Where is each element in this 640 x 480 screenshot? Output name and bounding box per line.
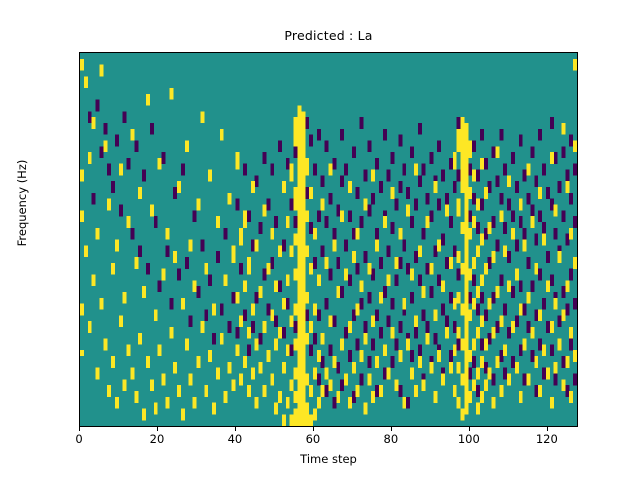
y-axis-label: Frequency (Hz) bbox=[15, 133, 29, 273]
x-tick-label: 40 bbox=[205, 432, 265, 446]
x-tick-mark bbox=[391, 427, 392, 431]
x-tick-label: 60 bbox=[283, 432, 343, 446]
x-tick-mark bbox=[469, 427, 470, 431]
x-tick-label: 0 bbox=[49, 432, 109, 446]
x-tick-mark bbox=[313, 427, 314, 431]
page-title: Predicted : La bbox=[79, 28, 578, 43]
x-tick-label: 20 bbox=[127, 432, 187, 446]
x-tick-label: 80 bbox=[361, 432, 421, 446]
heatmap-cells bbox=[80, 53, 577, 426]
x-tick-label: 100 bbox=[439, 432, 499, 446]
matplotlib-figure: Predicted : La Frequency (Hz) Time step … bbox=[0, 0, 640, 480]
x-tick-mark bbox=[157, 427, 158, 431]
x-tick-label: 120 bbox=[517, 432, 577, 446]
x-tick-mark bbox=[79, 427, 80, 431]
x-axis-label: Time step bbox=[79, 452, 578, 466]
heatmap-plot-area[interactable] bbox=[79, 52, 578, 427]
x-tick-mark bbox=[547, 427, 548, 431]
x-tick-mark bbox=[235, 427, 236, 431]
